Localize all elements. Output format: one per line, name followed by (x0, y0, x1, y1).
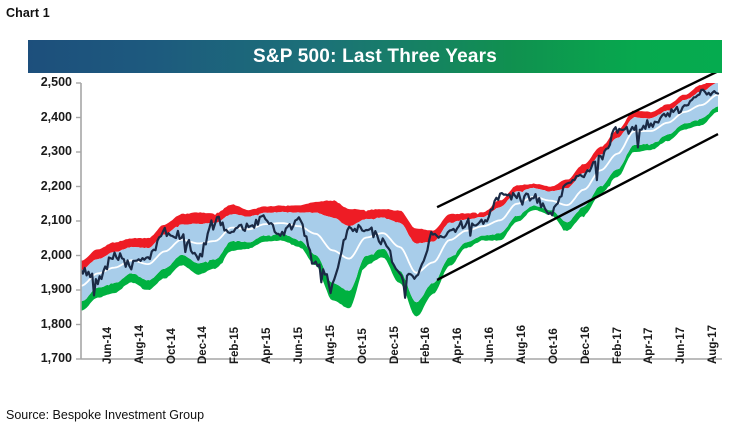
x-axis-tick-label: Aug-15 (325, 325, 337, 364)
y-axis-tick-label: 2,000 (28, 248, 72, 262)
standard-deviation-blue-band (81, 83, 718, 302)
x-axis-tick-label: Dec-16 (580, 326, 592, 364)
y-axis-tick-label: 1,700 (28, 351, 72, 365)
x-axis-tick-label: Feb-17 (612, 327, 624, 364)
y-axis-tick-label: 2,300 (28, 144, 72, 158)
x-axis-tick-label: Apr-15 (261, 328, 273, 364)
lower-trend-channel-line (437, 134, 718, 280)
x-axis-tick-label: Jun-15 (293, 327, 305, 364)
y-axis-tick-label: 2,400 (28, 110, 72, 124)
plot-area: 2,5002,4002,3002,2002,1002,0001,9001,800… (28, 73, 722, 390)
chart-title-bar: S&P 500: Last Three Years (28, 40, 722, 75)
chart-figure: S&P 500: Last Three Years (28, 40, 722, 390)
x-axis-tick-label: Feb-15 (229, 327, 241, 364)
x-axis-tick-label: Oct-15 (357, 328, 369, 364)
source-note: Source: Bespoke Investment Group (6, 408, 204, 422)
x-axis-tick-label: Aug-17 (707, 325, 719, 364)
x-axis-tick-label: Dec-14 (197, 326, 209, 364)
y-axis-tick-label: 1,900 (28, 282, 72, 296)
x-axis-tick-label: Oct-16 (548, 328, 560, 364)
x-axis-tick-label: Jun-14 (102, 327, 114, 364)
x-axis-tick-label: Jun-16 (484, 327, 496, 364)
y-axis-tick-label: 2,100 (28, 213, 72, 227)
x-axis-tick-label: Apr-17 (643, 328, 655, 364)
x-axis-tick-label: Feb-16 (420, 327, 432, 364)
x-axis-tick-label: Aug-14 (134, 325, 146, 364)
figure-label: Chart 1 (6, 6, 50, 20)
x-axis-tick-label: Aug-16 (516, 325, 528, 364)
x-axis-tick-label: Oct-14 (166, 328, 178, 364)
y-axis-tick-label: 2,500 (28, 75, 72, 89)
x-axis-tick-label: Dec-15 (389, 326, 401, 364)
y-axis-tick-label: 2,200 (28, 179, 72, 193)
y-axis-tick-label: 1,800 (28, 317, 72, 331)
x-axis-tick-label: Jun-17 (675, 327, 687, 364)
chart-title: S&P 500: Last Three Years (253, 46, 497, 68)
x-axis-tick-label: Apr-16 (452, 328, 464, 364)
